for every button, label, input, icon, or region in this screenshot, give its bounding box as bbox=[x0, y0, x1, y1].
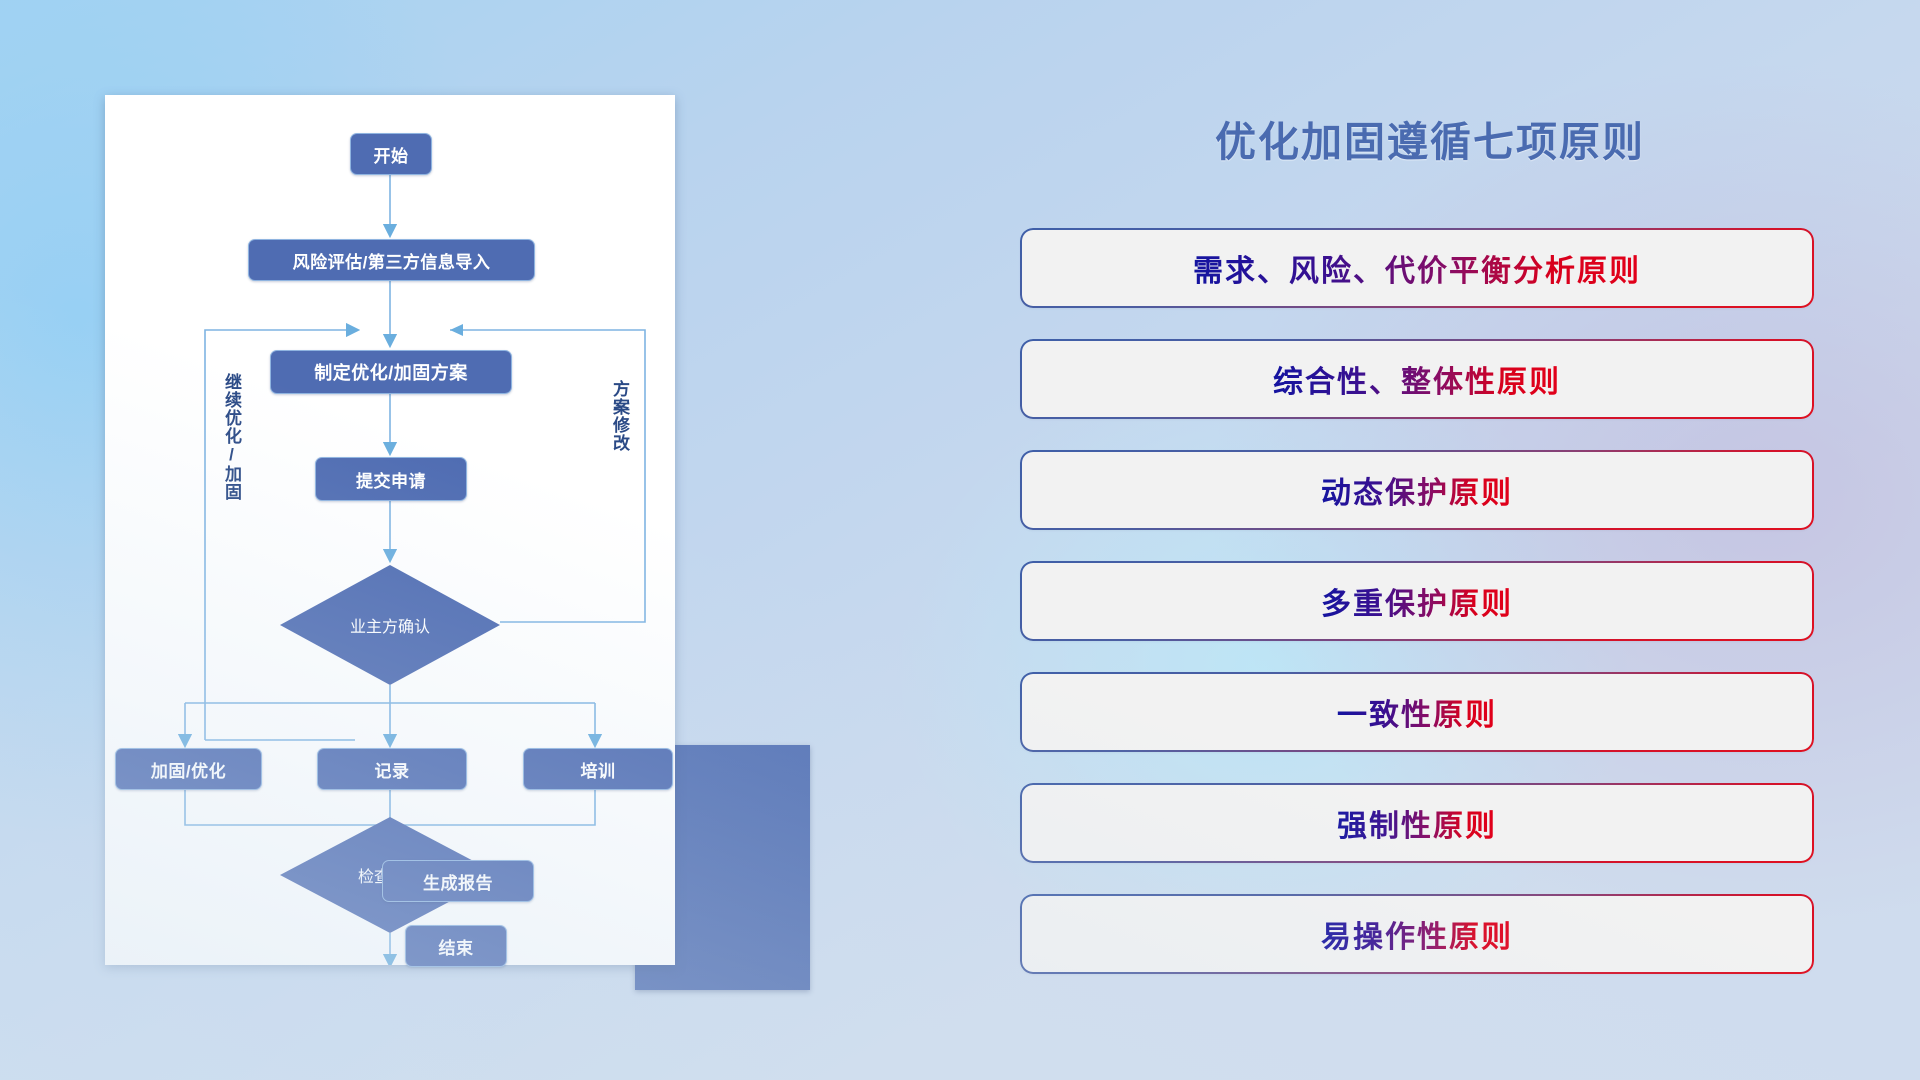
principle-item[interactable]: 强制性原则 bbox=[1022, 785, 1812, 861]
principle-label: 一致性原则 bbox=[1337, 690, 1497, 734]
principle-label: 动态保护原则 bbox=[1321, 468, 1513, 512]
principle-label: 需求、风险、代价平衡分析原则 bbox=[1193, 246, 1641, 290]
page-title: 优化加固遵循七项原则 bbox=[1150, 108, 1710, 168]
principle-item[interactable]: 动态保护原则 bbox=[1022, 452, 1812, 528]
flow-node-plan[interactable]: 制定优化/加固方案 bbox=[270, 350, 512, 394]
flowchart-connectors-lower bbox=[105, 930, 675, 990]
flow-node-risk-assessment[interactable]: 风险评估/第三方信息导入 bbox=[248, 239, 535, 281]
principle-label: 多重保护原则 bbox=[1321, 579, 1513, 623]
flow-node-start[interactable]: 开始 bbox=[350, 133, 432, 175]
principle-item[interactable]: 需求、风险、代价平衡分析原则 bbox=[1022, 230, 1812, 306]
flow-node-submit-application[interactable]: 提交申请 bbox=[315, 457, 467, 501]
flow-node-record[interactable]: 记录 bbox=[317, 748, 467, 790]
principle-label: 易操作性原则 bbox=[1321, 912, 1513, 956]
flow-node-training[interactable]: 培训 bbox=[523, 748, 673, 790]
flow-node-reinforce[interactable]: 加固/优化 bbox=[115, 748, 262, 790]
flow-node-report[interactable]: 生成报告 bbox=[382, 860, 534, 902]
slide-background: 开始 风险评估/第三方信息导入 制定优化/加固方案 提交申请 业主方确认 加固/… bbox=[0, 0, 1920, 1080]
flow-edge-label-plan-revise: 方案修改 bbox=[611, 380, 628, 452]
principle-label: 强制性原则 bbox=[1337, 801, 1497, 845]
principle-label: 综合性、整体性原则 bbox=[1273, 357, 1561, 401]
principle-item[interactable]: 多重保护原则 bbox=[1022, 563, 1812, 639]
principles-list: 需求、风险、代价平衡分析原则 综合性、整体性原则 动态保护原则 多重保护原则 一… bbox=[1022, 230, 1812, 1007]
principle-item[interactable]: 易操作性原则 bbox=[1022, 896, 1812, 972]
principle-item[interactable]: 综合性、整体性原则 bbox=[1022, 341, 1812, 417]
flow-edge-label-continue-optimize: 继续优化/加固 bbox=[223, 373, 240, 501]
principle-item[interactable]: 一致性原则 bbox=[1022, 674, 1812, 750]
flowchart: 开始 风险评估/第三方信息导入 制定优化/加固方案 提交申请 业主方确认 加固/… bbox=[105, 95, 675, 965]
